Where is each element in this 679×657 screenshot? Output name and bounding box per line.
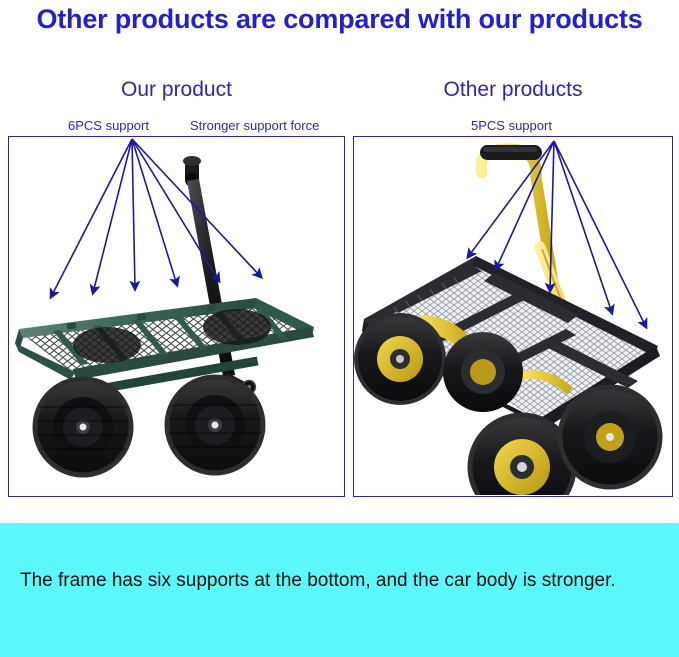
comparison-infographic: Other products are compared with our pro… [0, 0, 679, 657]
left-support-count-label: 6PCS support [68, 118, 149, 133]
summary-banner-text: The frame has six supports at the bottom… [20, 570, 660, 592]
cart-deck [15, 298, 314, 380]
left-product-image [9, 137, 344, 496]
wheel-front-left [35, 379, 131, 475]
wheel-front-right [167, 377, 263, 473]
right-support-count-label: 5PCS support [471, 118, 552, 133]
page-title: Other products are compared with our pro… [0, 2, 679, 36]
green-garden-cart-illustration [9, 137, 343, 495]
left-column-title: Our product [8, 78, 345, 102]
wheel-rear-left [356, 315, 444, 403]
wheel-mid [443, 332, 523, 412]
summary-banner: The frame has six supports at the bottom… [0, 523, 679, 657]
left-support-force-label: Stronger support force [190, 118, 319, 133]
right-product-image [354, 137, 672, 496]
right-product-panel [353, 136, 673, 497]
left-product-panel [8, 136, 345, 497]
right-column-title: Other products [353, 78, 673, 102]
cart-wheels [35, 377, 263, 475]
wheel-front-right [560, 387, 660, 487]
wheel-front-left [470, 415, 574, 495]
yellow-black-garden-cart-illustration [354, 137, 671, 495]
